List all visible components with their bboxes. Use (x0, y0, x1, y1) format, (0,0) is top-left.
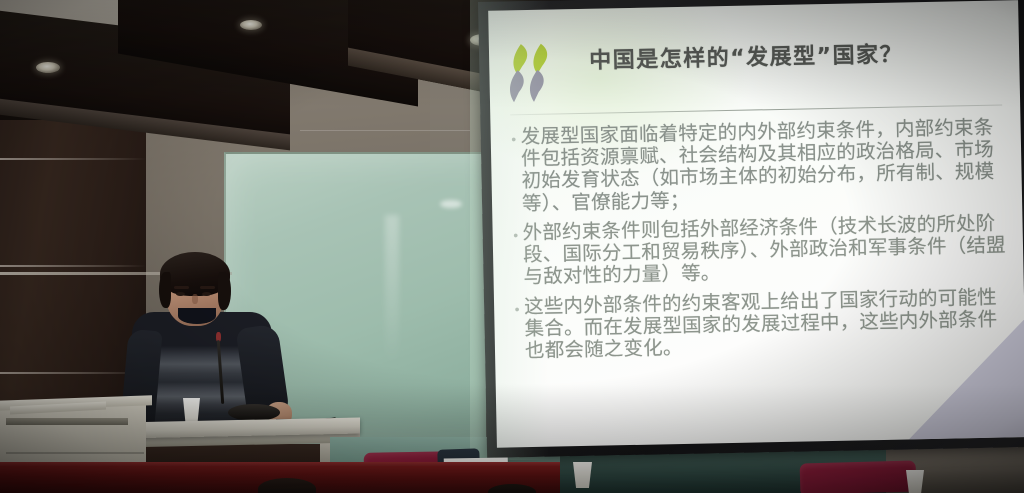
presenter-nose (192, 294, 198, 304)
paper-cup (183, 398, 200, 422)
wood-panel-seam (0, 158, 146, 160)
ceiling-downlight-icon (240, 20, 262, 30)
cabinet-slot (6, 418, 128, 425)
slide-bullet-item: • 发展型国家面临着特定的内外部约束条件，内部约束条件包括资源禀赋、社会结构及其… (507, 116, 1013, 215)
presenter-eye (176, 292, 185, 296)
slide-title: 中国是怎样的“发展型”国家？ (589, 34, 1006, 74)
ceiling-downlight-icon (36, 62, 60, 73)
slide-bullet-list: • 发展型国家面临着特定的内外部约束条件，内部约束条件包括资源禀赋、社会结构及其… (507, 116, 1016, 369)
presenter-hair-side (218, 272, 231, 310)
presenter-eye (202, 292, 211, 296)
wood-panel-seam (0, 265, 146, 267)
presenter-hair-side (159, 272, 171, 308)
slide-bullet-text: 外部约束条件则包括外部经济条件（技术长波的所处阶段、国际分工和贸易秩序）、外部政… (522, 212, 1013, 288)
audience-head-silhouette (258, 478, 316, 493)
cabinet-drawer-seam (6, 452, 144, 454)
slide-bullet-text: 发展型国家面临着特定的内外部约束条件，内部约束条件包括资源禀赋、社会结构及其相应… (521, 116, 1013, 215)
audience-head-silhouette (488, 484, 536, 493)
whiteboard-sheen (385, 215, 399, 365)
screen-frame: 中国是怎样的“发展型”国家？ • 发展型国家面临着特定的内外部约束条件，内部约束… (478, 0, 1024, 458)
bullet-marker-icon: • (508, 222, 522, 243)
slide-bullet-text: 这些内外部条件的约束客观上给出了国家行动的可能性集合。而在发展型国家的发展过程中… (524, 286, 1015, 362)
burgundy-chair-right (800, 460, 917, 493)
whiteboard-glare (440, 200, 462, 208)
presenter-eyebrow (200, 286, 215, 289)
bullet-marker-icon: • (507, 126, 521, 147)
slide-bullet-item: • 这些内外部条件的约束客观上给出了国家行动的可能性集合。而在发展型国家的发展过… (510, 286, 1015, 363)
paper-cup (906, 470, 924, 493)
lecture-hall-photo: 中国是怎样的 (0, 0, 1024, 493)
double-chevron-quote-logo (507, 39, 568, 106)
bullet-marker-icon: • (510, 296, 524, 317)
projection-screen: 中国是怎样的“发展型”国家？ • 发展型国家面临着特定的内外部约束条件，内部约束… (478, 0, 1024, 458)
presenter-eyebrow (174, 286, 189, 289)
paper-cup (573, 462, 592, 488)
slide-bullet-item: • 外部约束条件则包括外部经济条件（技术长波的所处阶段、国际分工和贸易秩序）、外… (508, 212, 1013, 289)
presenter-collar (178, 308, 216, 324)
slide-title-divider (510, 105, 1002, 116)
wall-seam (300, 130, 470, 131)
presentation-slide: 中国是怎样的“发展型”国家？ • 发展型国家面临着特定的内外部约束条件，内部约束… (488, 0, 1024, 448)
